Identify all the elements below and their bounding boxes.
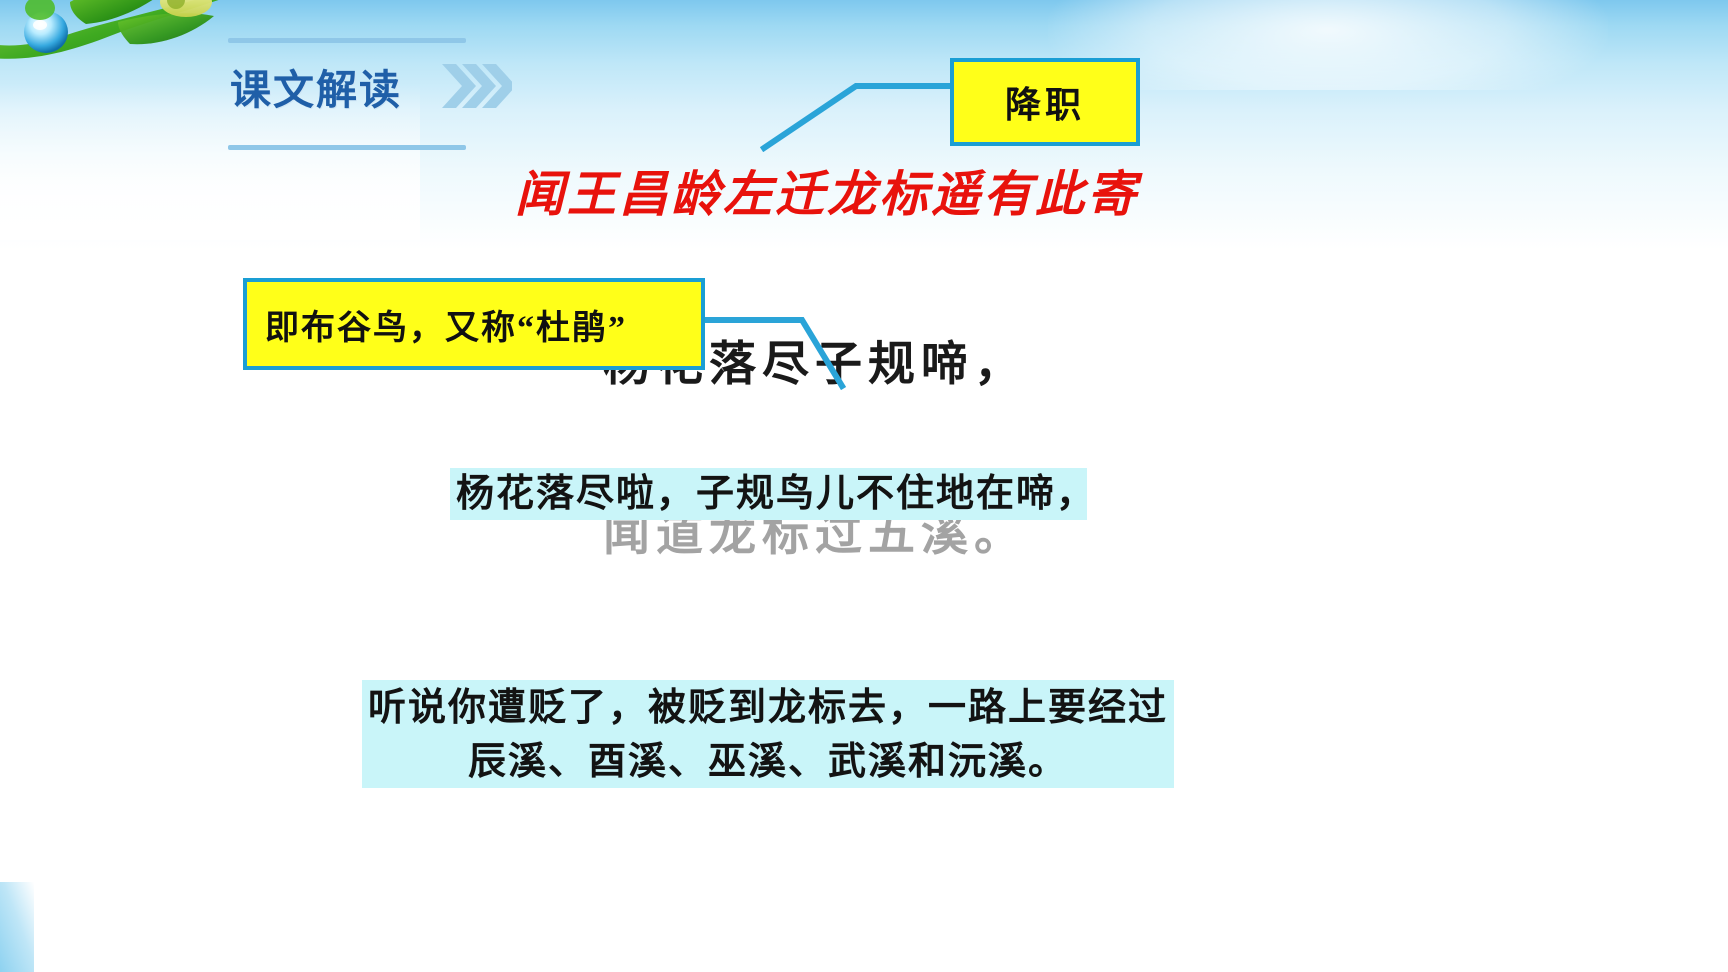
callout-demotion[interactable]: 降职 bbox=[950, 58, 1140, 146]
slide-canvas: 课文解读 闻王昌龄左迁龙标遥有此寄 降职 杨花落尽子规啼， 闻道龙标过五溪。 即… bbox=[0, 0, 1728, 972]
leader-line-demotion bbox=[760, 62, 970, 152]
heading-rule-top bbox=[228, 38, 466, 43]
section-title: 课文解读 bbox=[230, 56, 402, 116]
section-heading-block: 课文解读 bbox=[228, 38, 490, 150]
translation-line-1: 杨花落尽啦，子规鸟儿不住地在啼， bbox=[450, 468, 1087, 520]
poem-title: 闻王昌龄左迁龙标遥有此寄 bbox=[515, 155, 1139, 226]
heading-rule-bottom bbox=[228, 145, 466, 150]
translation-block-2: 听说你遭贬了，被贬到龙标去，一路上要经过 辰溪、酉溪、巫溪、武溪和沅溪。 bbox=[362, 680, 1174, 788]
translation-line-2a: 听说你遭贬了，被贬到龙标去，一路上要经过 bbox=[362, 681, 1174, 735]
corner-wedge-decoration bbox=[0, 882, 34, 972]
double-chevron-icon bbox=[440, 62, 512, 110]
translation-line-2b: 辰溪、酉溪、巫溪、武溪和沅溪。 bbox=[362, 735, 1174, 789]
callout-cuckoo[interactable]: 即布谷鸟，又称“杜鹃” bbox=[243, 278, 705, 370]
